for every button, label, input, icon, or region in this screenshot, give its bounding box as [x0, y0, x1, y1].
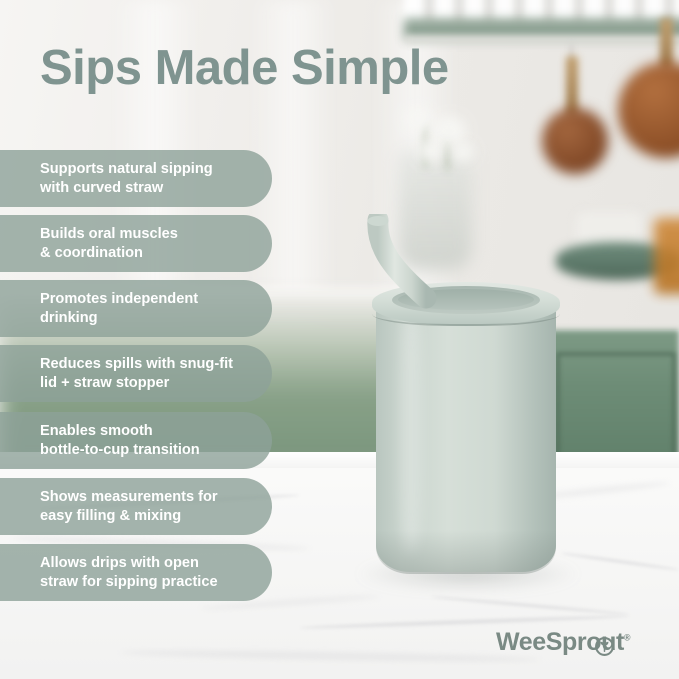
infographic-scene: Sips Made Simple Supports natural sippin…: [0, 0, 679, 679]
curved-straw: [352, 214, 462, 310]
benefit-text-line1: Supports natural sipping: [40, 160, 242, 179]
brand-logo: WeeSprout®: [496, 628, 630, 657]
benefit-pill: Builds oral muscles & coordination: [0, 215, 272, 272]
benefit-pill: Reduces spills with snug-fit lid + straw…: [0, 345, 272, 402]
page-title: Sips Made Simple: [40, 40, 449, 96]
benefit-text-line2: bottle-to-cup transition: [40, 441, 242, 460]
benefit-pill: Allows drips with open straw for sipping…: [0, 544, 272, 601]
benefit-text-line2: easy filling & mixing: [40, 507, 242, 526]
benefit-text-line2: & coordination: [40, 244, 242, 263]
benefit-text-line1: Shows measurements for: [40, 488, 242, 507]
benefit-text-line2: lid + straw stopper: [40, 374, 242, 393]
cup-bottom-shading: [376, 530, 556, 574]
benefit-pill: Enables smooth bottle-to-cup transition: [0, 412, 272, 469]
sprout-icon: [595, 634, 614, 653]
benefit-text-line1: Reduces spills with snug-fit: [40, 355, 242, 374]
benefit-pill: Supports natural sipping with curved str…: [0, 150, 272, 207]
benefit-text-line1: Allows drips with open: [40, 554, 242, 573]
registered-mark: ®: [624, 633, 630, 643]
cup-highlight: [396, 308, 426, 554]
brand-name: WeeSprout®: [496, 628, 630, 657]
benefit-text-line2: straw for sipping practice: [40, 573, 242, 592]
benefit-text-line1: Builds oral muscles: [40, 225, 242, 244]
benefit-text-line2: drinking: [40, 309, 242, 328]
benefit-text-line1: Enables smooth: [40, 422, 242, 441]
benefit-text-line2: with curved straw: [40, 179, 242, 198]
benefit-text-line1: Promotes independent: [40, 290, 242, 309]
benefit-pill: Promotes independent drinking: [0, 280, 272, 337]
benefit-pill: Shows measurements for easy filling & mi…: [0, 478, 272, 535]
